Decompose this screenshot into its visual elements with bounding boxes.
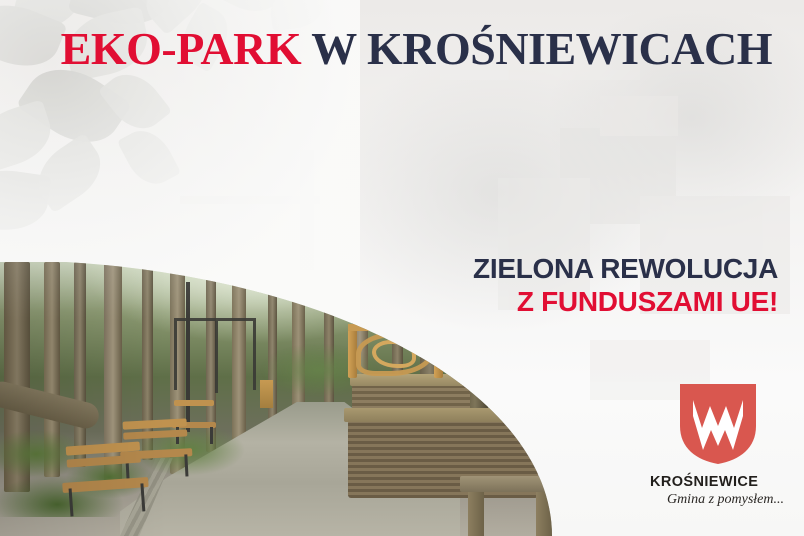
municipality-tagline: Gmina z pomysłem... [648, 492, 788, 508]
park-photo-image [0, 262, 560, 536]
page-title-highlight: EKO-PARK [61, 23, 301, 74]
coat-of-arms-icon [678, 382, 758, 466]
park-photo-mask [0, 262, 560, 536]
page-title: EKO-PARK W KROŚNIEWICACH [0, 24, 772, 74]
municipality-name: KROŚNIEWICE [648, 474, 788, 490]
page-title-rest: W KROŚNIEWICACH [301, 23, 772, 74]
municipality-logo: KROŚNIEWICE Gmina z pomysłem... [648, 382, 788, 508]
eko-park-promo-banner: EKO-PARK W KROŚNIEWICACH ZIELONA REWOLUC… [0, 0, 804, 536]
park-photo [0, 262, 560, 536]
